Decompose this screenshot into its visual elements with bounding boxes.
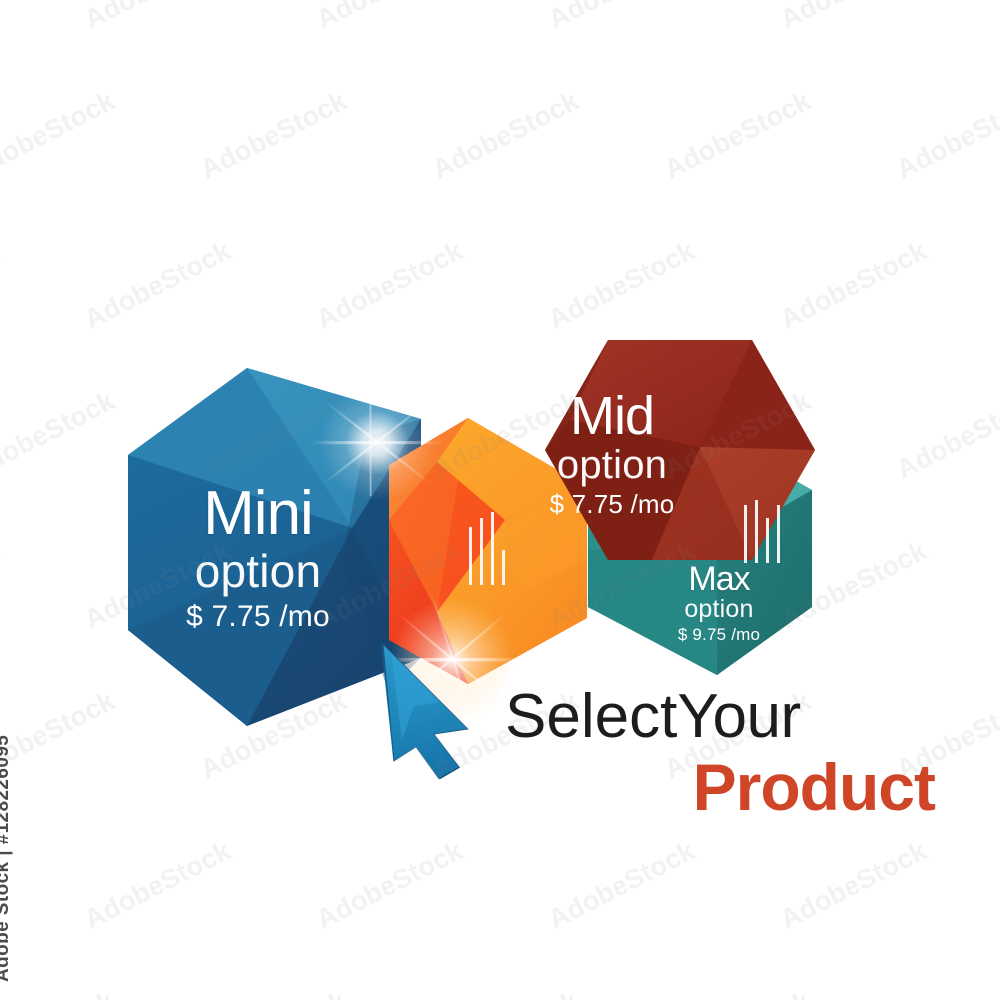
headline-line-2: Product bbox=[505, 754, 935, 820]
headline-line-1: SelectYour bbox=[505, 686, 935, 748]
artwork-canvas: Mini option $ 7.75 /mo Mid option $ 7.75… bbox=[0, 0, 1000, 1000]
headline-your: Your bbox=[677, 682, 800, 751]
headline-select: Select bbox=[505, 682, 677, 751]
headline: SelectYour Product bbox=[505, 686, 935, 820]
geometric-hexagon-composition bbox=[0, 0, 1000, 1000]
stock-credit-label: Adobe Stock | #128226095 bbox=[0, 735, 14, 982]
